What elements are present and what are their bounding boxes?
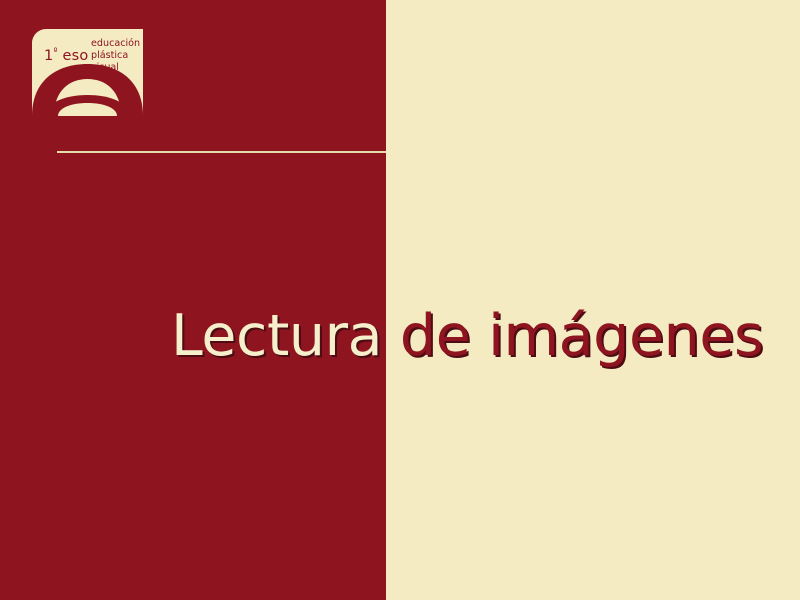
course-logo: 1º eso educación plástica visual [32, 29, 143, 116]
logo-subject-line-3: visual [91, 62, 140, 74]
logo-level-label: 1º eso [44, 48, 88, 64]
slide-canvas: 1º eso educación plástica visual Lectura… [0, 0, 800, 600]
slide-title: Lectura de imágenes Lectura de imágenes [0, 298, 800, 374]
logo-subject-lines: educación plástica visual [91, 38, 140, 75]
logo-subject-line-1: educación [91, 38, 140, 50]
logo-subject-line-2: plástica [91, 50, 140, 62]
header-divider-rule [57, 151, 386, 153]
